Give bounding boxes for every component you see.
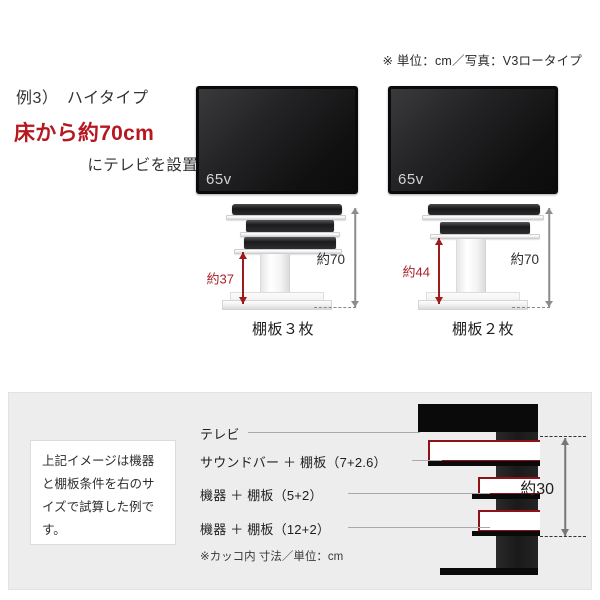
- tv-size-label: 65v: [398, 171, 424, 188]
- arrowhead-down: [239, 297, 247, 304]
- dimension-line: [548, 208, 550, 307]
- schematic-label-device-upper: 機器 ＋ 棚板（5+2）: [200, 485, 323, 504]
- dimension-label: 約70: [316, 248, 345, 268]
- dimension-label: 約30: [520, 475, 554, 499]
- schematic-label-soundbar: サウンドバー ＋ 棚板（7+2.6）: [200, 452, 387, 471]
- av-device-upper: [246, 220, 334, 232]
- unit-note: ※ 単位：cm／写真：V3ロータイプ: [383, 50, 583, 69]
- soundbar: [428, 204, 540, 215]
- leader-line-base: [512, 307, 550, 308]
- tv-panel: 65v: [388, 86, 558, 194]
- arrowhead-up: [435, 238, 443, 245]
- arrowhead-up: [561, 438, 569, 445]
- arrowhead-down: [545, 301, 553, 307]
- shelf-plate-top: [422, 215, 544, 220]
- schematic-bracket-device-lower: [478, 510, 540, 532]
- dimension-outer: 約70: [348, 208, 362, 307]
- arrowhead-down: [561, 529, 569, 536]
- dimension-label: 約70: [510, 248, 539, 268]
- schematic-plate-soundbar: [428, 461, 540, 466]
- calculation-note: 上記イメージは機器と棚板条件を右のサイズで試算した例です。: [30, 440, 176, 545]
- tv-panel: 65v: [196, 86, 358, 194]
- av-device-upper: [440, 222, 530, 234]
- example-label: 例3） ハイタイプ: [14, 84, 204, 108]
- leader-line-base: [314, 307, 356, 308]
- guide-line-top: [540, 436, 586, 437]
- arrowhead-up: [239, 252, 247, 259]
- dimension-stack: 約30: [558, 438, 572, 536]
- install-description: にテレビを設置: [14, 153, 204, 175]
- arrowhead-down: [435, 297, 443, 304]
- arrowhead-up: [351, 208, 359, 214]
- leader-line-device-lower: [348, 527, 490, 528]
- arrowhead-down: [351, 301, 359, 307]
- schematic-label-device-lower: 機器 ＋ 棚板（12+2）: [200, 519, 330, 538]
- dimension-line: [438, 238, 440, 304]
- tv-size-label: 65v: [206, 171, 232, 188]
- schematic-tv-block: [418, 404, 538, 432]
- guide-line-bottom: [540, 536, 586, 537]
- schematic-base: [440, 568, 538, 575]
- dimension-line: [564, 438, 566, 536]
- leader-line-device-upper: [348, 493, 490, 494]
- product-spec-diagram: ※ 単位：cm／写真：V3ロータイプ 例3） ハイタイプ 床から約70cm にテ…: [0, 0, 600, 600]
- schematic-bracket-soundbar: [428, 440, 540, 462]
- leader-line-soundbar: [412, 460, 442, 461]
- dimension-label: 約44: [403, 262, 430, 281]
- caption-shelf-3: 棚板３枚: [252, 318, 314, 339]
- caption-shelf-2: 棚板２枚: [452, 318, 514, 339]
- schematic-plate-device-lower: [472, 531, 540, 536]
- title-block: 例3） ハイタイプ 床から約70cm にテレビを設置: [14, 84, 204, 175]
- schematic-footnote: ※カッコ内 寸法／単位：cm: [200, 548, 343, 564]
- leader-line-tv: [248, 432, 420, 433]
- dimension-outer: 約70: [542, 208, 556, 307]
- schematic-label-tv: テレビ: [200, 424, 240, 443]
- dimension-inner: 約37: [236, 252, 250, 304]
- dimension-inner: 約44: [432, 238, 446, 304]
- dimension-label: 約37: [207, 269, 234, 288]
- soundbar: [232, 204, 342, 215]
- height-highlight: 床から約70cm: [14, 117, 204, 147]
- dimension-line: [354, 208, 356, 307]
- arrowhead-up: [545, 208, 553, 214]
